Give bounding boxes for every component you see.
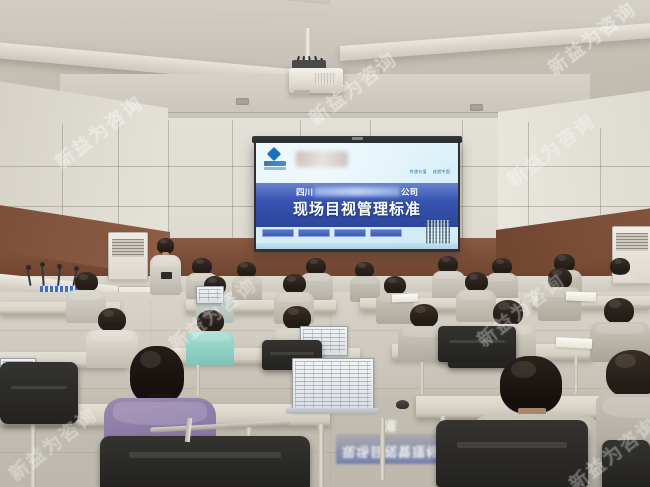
logo-diamond-icon [267, 147, 281, 161]
company-suffix: 公司 [401, 187, 418, 197]
slide-tab-bar [262, 229, 402, 237]
ac-grille [112, 239, 144, 257]
slide-tab-3 [334, 229, 366, 237]
desk-leg [380, 418, 385, 480]
projector-vent [315, 73, 335, 85]
desk-leg [30, 424, 36, 487]
slide-tab-1 [262, 229, 294, 237]
ceiling-vent [470, 104, 483, 111]
slide-company-line: 四川公司 [256, 186, 458, 198]
laptop-base [286, 408, 378, 414]
wall-seam [232, 120, 233, 240]
paper-sheet [556, 337, 592, 349]
slide-header-graphic [296, 151, 348, 167]
presenter-remote [161, 272, 172, 279]
training-room-photo: 传递价值 成就中国 四川公司 现场目视管理标准 现场目视管理标准 [0, 0, 650, 487]
slide-tab-2 [298, 229, 330, 237]
air-conditioner-left [108, 232, 148, 280]
chair [602, 440, 650, 487]
projected-slide: 传递价值 成就中国 四川公司 现场目视管理标准 [256, 143, 458, 249]
logo-wordmark [264, 161, 286, 166]
wall-seam [462, 120, 463, 240]
computer-mouse [396, 400, 409, 409]
chair [438, 326, 516, 362]
wall-seam [528, 122, 529, 240]
company-prefix: 四川 [296, 187, 313, 197]
wall-seam [118, 122, 119, 240]
projector-lens [294, 90, 310, 97]
company-logo [264, 149, 286, 171]
laptop [292, 358, 374, 412]
logo-subtext [264, 167, 286, 170]
slide-slogans: 传递价值 成就中国 [410, 169, 450, 175]
ac-grille [616, 233, 648, 251]
desk-leg [196, 360, 200, 396]
paper-sheet [392, 294, 418, 303]
company-name-blurred [314, 187, 400, 196]
qr-code [426, 220, 450, 244]
chair [0, 362, 78, 424]
slide-main-title: 现场目视管理标准 [256, 198, 458, 219]
laptop [196, 286, 224, 304]
chair [436, 420, 588, 487]
slide-footer [256, 243, 458, 249]
ceiling-vent [236, 98, 249, 105]
floor-reflection-title: 现场目视管理标准 [336, 434, 446, 464]
wall-seam [168, 120, 169, 240]
reflection-text: 现场目视管理标准 [336, 412, 446, 464]
paper-sheet [566, 291, 596, 301]
desk-leg [574, 356, 578, 394]
slide-tab-4 [370, 229, 402, 237]
chair [100, 436, 310, 487]
slide-slogan-2: 成就中国 [433, 169, 450, 175]
desk-leg [318, 424, 324, 487]
slide-slogan-1: 传递价值 [410, 169, 427, 175]
